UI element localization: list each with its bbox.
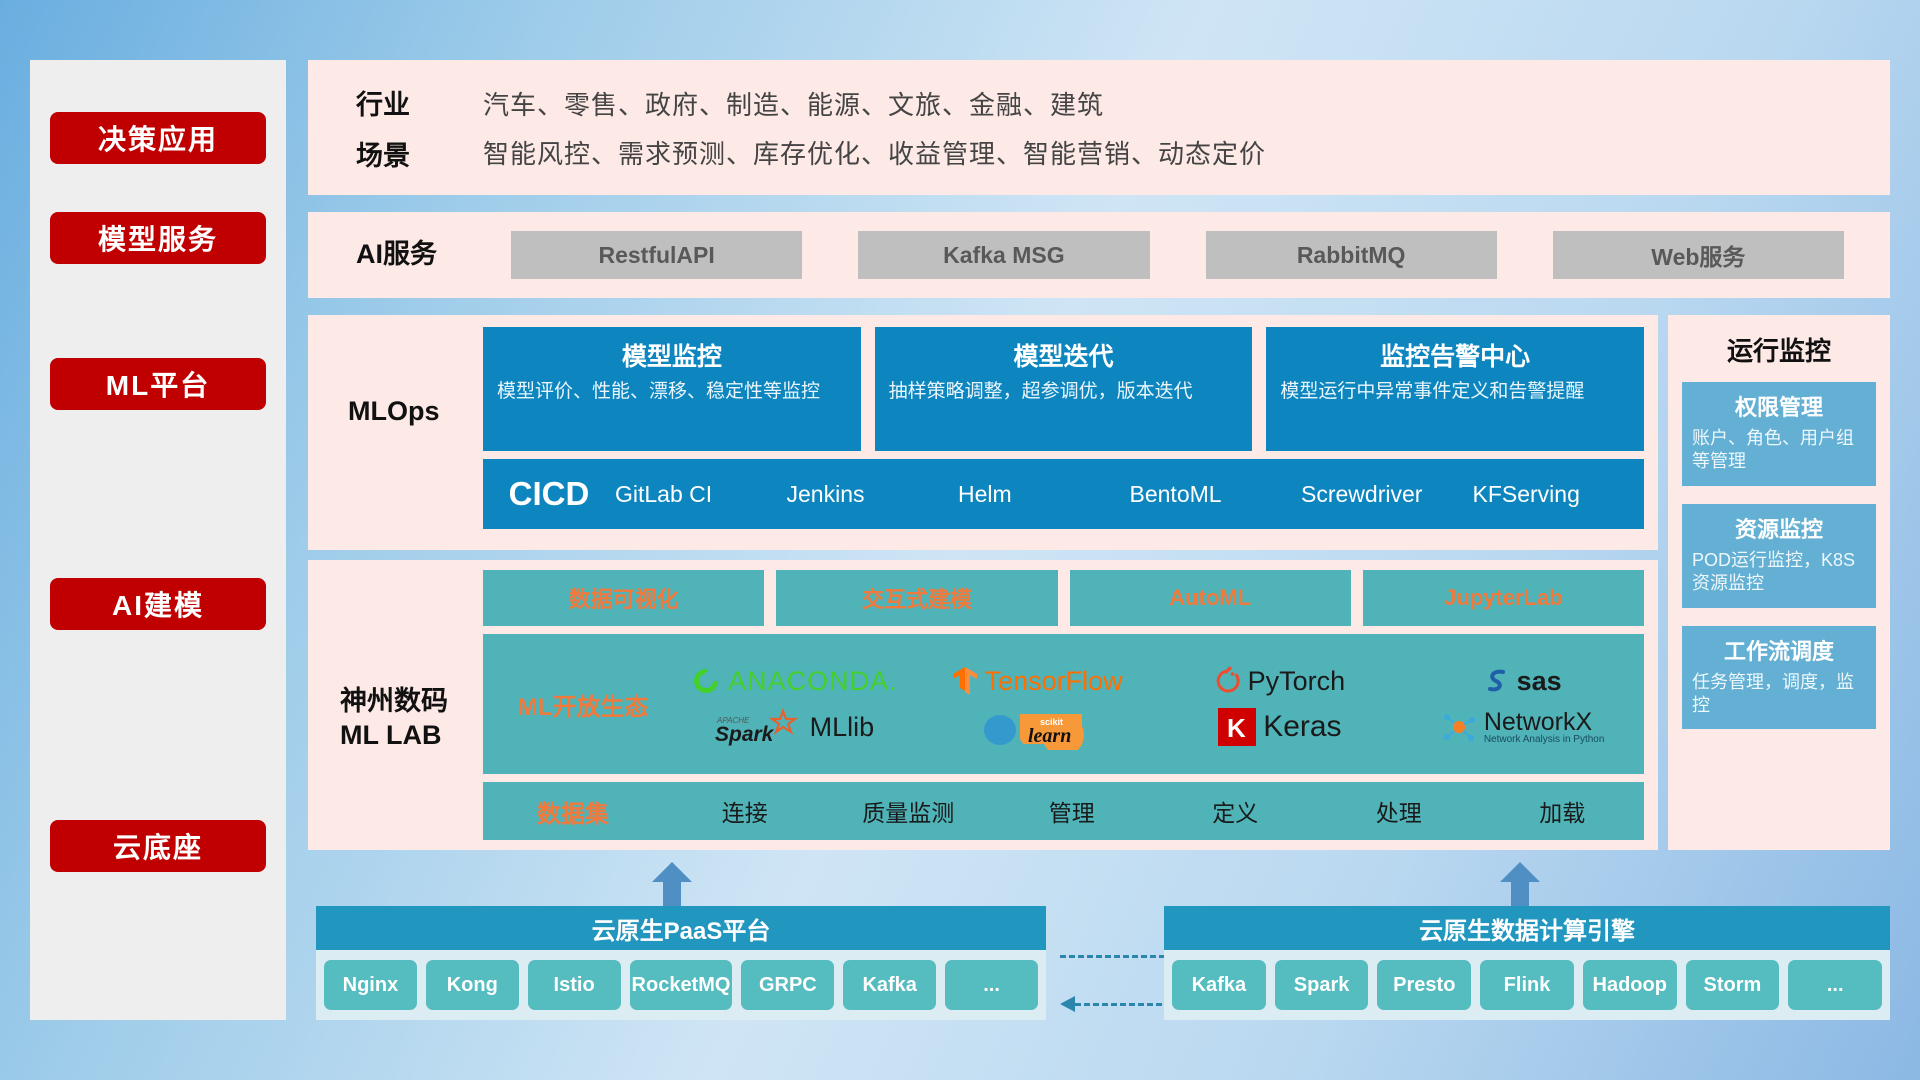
layer-rail: 决策应用 模型服务 ML平台 AI建模 云底座 <box>30 60 286 1020</box>
dataset-bar: 数据集 连接 质量监测 管理 定义 处理 加载 <box>483 782 1644 840</box>
cloud-chip-grpc[interactable]: GRPC <box>741 960 834 1010</box>
svg-text:Spark: Spark <box>715 723 775 746</box>
logo-networkx-text: NetworkX <box>1484 710 1605 735</box>
mlops-card-model-iteration[interactable]: 模型迭代 抽样策略调整，超参调优，版本迭代 <box>875 327 1253 451</box>
dataset-item-manage[interactable]: 管理 <box>990 794 1154 828</box>
scikit-learn-icon: scikit learn <box>982 704 1092 750</box>
svg-text:learn: learn <box>1028 725 1071 747</box>
cloud-chip-kafka[interactable]: Kafka <box>843 960 936 1010</box>
cloud-chip-presto[interactable]: Presto <box>1377 960 1471 1010</box>
mlops-content: 模型监控 模型评价、性能、漂移、稳定性等监控 模型迭代 抽样策略调整，超参调优，… <box>483 315 1658 550</box>
keras-icon: K <box>1218 708 1256 746</box>
cloud-chip-more[interactable]: ... <box>945 960 1038 1010</box>
dataset-item-list: 连接 质量监测 管理 定义 处理 加载 <box>663 794 1644 828</box>
cloud-chip-kafka[interactable]: Kafka <box>1172 960 1266 1010</box>
cicd-item-jenkins[interactable]: Jenkins <box>787 481 959 507</box>
dataset-item-define[interactable]: 定义 <box>1154 794 1318 828</box>
logo-networkx-subtitle: Network Analysis in Python <box>1484 735 1605 745</box>
sas-icon <box>1484 666 1510 696</box>
cloud-paas-chip-list: Nginx Kong Istio RocketMQ GRPC Kafka ... <box>316 950 1046 1020</box>
logo-tensorflow-text: TensorFlow <box>985 666 1123 697</box>
cicd-item-kfserving[interactable]: KFServing <box>1473 481 1645 507</box>
logo-anaconda-text: ANACONDA. <box>728 666 898 697</box>
card-title: 模型迭代 <box>889 337 1239 373</box>
card-desc: 抽样策略调整，超参调优，版本迭代 <box>889 379 1239 404</box>
dashed-arrow-right-icon <box>1060 950 1180 962</box>
dataset-item-load[interactable]: 加载 <box>1481 794 1645 828</box>
cloud-chip-storm[interactable]: Storm <box>1686 960 1780 1010</box>
cicd-item-gitlab-ci[interactable]: GitLab CI <box>615 481 787 507</box>
cloud-chip-spark[interactable]: Spark <box>1275 960 1369 1010</box>
mlops-card-list: 模型监控 模型评价、性能、漂移、稳定性等监控 模型迭代 抽样策略调整，超参调优，… <box>483 327 1644 451</box>
logo-networkx[interactable]: NetworkX Network Analysis in Python <box>1401 710 1644 745</box>
logo-anaconda[interactable]: ANACONDA. <box>673 666 916 697</box>
diagram-canvas: 决策应用 模型服务 ML平台 AI建模 云底座 行业 场景 汽车、零售、政府、制… <box>0 0 1920 1080</box>
ai-modeling-band: 神州数码 ML LAB 数据可视化 交互式建模 AutoML JupyterLa… <box>308 560 1658 850</box>
cicd-item-bentoml[interactable]: BentoML <box>1130 481 1302 507</box>
logo-pytorch-text: PyTorch <box>1248 666 1346 697</box>
monitor-card-workflow[interactable]: 工作流调度 任务管理，调度，监控 <box>1682 626 1876 730</box>
up-arrow-paas-icon <box>652 862 692 906</box>
rail-chip-cloud-base[interactable]: 云底座 <box>50 820 266 872</box>
tool-tab-list: 数据可视化 交互式建模 AutoML JupyterLab <box>483 570 1644 626</box>
tensorflow-icon <box>952 666 978 696</box>
ml-lab-label: 神州数码 ML LAB <box>308 560 483 850</box>
up-arrow-engine-icon <box>1500 862 1540 906</box>
tool-tab-jupyterlab[interactable]: JupyterLab <box>1363 570 1644 626</box>
card-title: 权限管理 <box>1692 390 1866 422</box>
card-desc: 任务管理，调度，监控 <box>1692 671 1866 718</box>
logo-spark-mllib[interactable]: APACHE Spark MLlib <box>673 707 916 747</box>
logo-tensorflow[interactable]: TensorFlow <box>916 666 1159 697</box>
ai-service-chip-kafka-msg[interactable]: Kafka MSG <box>858 231 1149 279</box>
cloud-engine-chip-list: Kafka Spark Presto Flink Hadoop Storm ..… <box>1164 950 1890 1020</box>
card-desc: 账户、角色、用户组等管理 <box>1692 427 1866 474</box>
industry-label: 行业 <box>356 83 483 122</box>
spark-icon: APACHE Spark <box>715 707 803 747</box>
mlops-label: MLOps <box>308 315 483 550</box>
cloud-chip-kong[interactable]: Kong <box>426 960 519 1010</box>
monitor-card-permission[interactable]: 权限管理 账户、角色、用户组等管理 <box>1682 382 1876 486</box>
cicd-item-list: GitLab CI Jenkins Helm BentoML Screwdriv… <box>615 481 1644 507</box>
tool-tab-data-visualization[interactable]: 数据可视化 <box>483 570 764 626</box>
dataset-title: 数据集 <box>483 794 663 829</box>
ai-service-chip-rabbitmq[interactable]: RabbitMQ <box>1206 231 1497 279</box>
logo-sas-text: sas <box>1517 666 1562 697</box>
cloud-paas-title: 云原生PaaS平台 <box>316 906 1046 950</box>
cicd-item-helm[interactable]: Helm <box>958 481 1130 507</box>
runtime-monitor-title: 运行监控 <box>1682 331 1876 368</box>
logo-keras[interactable]: K Keras <box>1159 708 1402 746</box>
cloud-chip-flink[interactable]: Flink <box>1480 960 1574 1010</box>
cicd-item-screwdriver[interactable]: Screwdriver <box>1301 481 1473 507</box>
pytorch-icon <box>1215 666 1241 696</box>
dashed-arrow-left-icon <box>1060 998 1180 1010</box>
ai-service-chip-list: RestfulAPI Kafka MSG RabbitMQ Web服务 <box>483 231 1890 279</box>
rail-chip-ml-platform[interactable]: ML平台 <box>50 358 266 410</box>
decision-labels: 行业 场景 <box>308 71 483 185</box>
tool-tab-interactive-modeling[interactable]: 交互式建模 <box>776 570 1057 626</box>
anaconda-icon <box>691 666 721 696</box>
card-title: 监控告警中心 <box>1280 337 1630 373</box>
ml-ecosystem-logo-grid: ANACONDA. TensorFlow <box>673 658 1644 750</box>
dataset-item-connect[interactable]: 连接 <box>663 794 827 828</box>
card-title: 资源监控 <box>1692 512 1866 544</box>
tool-tab-automl[interactable]: AutoML <box>1070 570 1351 626</box>
scenario-label: 场景 <box>356 134 483 173</box>
mlops-card-model-monitoring[interactable]: 模型监控 模型评价、性能、漂移、稳定性等监控 <box>483 327 861 451</box>
card-desc: 模型评价、性能、漂移、稳定性等监控 <box>497 379 847 404</box>
rail-chip-ai-modeling[interactable]: AI建模 <box>50 578 266 630</box>
monitor-card-resource[interactable]: 资源监控 POD运行监控，K8S资源监控 <box>1682 504 1876 608</box>
card-title: 模型监控 <box>497 337 847 373</box>
scenario-value: 智能风控、需求预测、库存优化、收益管理、智能营销、动态定价 <box>483 134 1266 171</box>
card-desc: POD运行监控，K8S资源监控 <box>1692 549 1866 596</box>
runtime-monitor-panel: 运行监控 权限管理 账户、角色、用户组等管理 资源监控 POD运行监控，K8S资… <box>1668 315 1890 850</box>
mlops-card-alert-center[interactable]: 监控告警中心 模型运行中异常事件定义和告警提醒 <box>1266 327 1644 451</box>
logo-pytorch[interactable]: PyTorch <box>1159 666 1402 697</box>
dataset-item-quality[interactable]: 质量监测 <box>827 794 991 828</box>
industry-value: 汽车、零售、政府、制造、能源、文旅、金融、建筑 <box>483 85 1266 122</box>
ml-ecosystem-label: ML开放生态 <box>493 687 673 722</box>
ai-service-chip-web[interactable]: Web服务 <box>1553 231 1844 279</box>
logo-mllib-text: MLlib <box>810 712 875 743</box>
cicd-title: CICD <box>483 475 615 513</box>
ai-service-label: AI服务 <box>308 238 483 272</box>
cloud-chip-rocketmq[interactable]: RocketMQ <box>630 960 733 1010</box>
cloud-chip-istio[interactable]: Istio <box>528 960 621 1010</box>
cloud-engine-block: 云原生数据计算引擎 Kafka Spark Presto Flink Hadoo… <box>1164 906 1890 1020</box>
rail-chip-model-service[interactable]: 模型服务 <box>50 212 266 264</box>
logo-keras-text: Keras <box>1263 710 1341 744</box>
mlops-band: MLOps 模型监控 模型评价、性能、漂移、稳定性等监控 模型迭代 抽样策略调整… <box>308 315 1658 550</box>
cicd-bar: CICD GitLab CI Jenkins Helm BentoML Scre… <box>483 459 1644 529</box>
cloud-chip-hadoop[interactable]: Hadoop <box>1583 960 1677 1010</box>
logo-sas[interactable]: sas <box>1401 666 1644 697</box>
decision-values: 汽车、零售、政府、制造、能源、文旅、金融、建筑 智能风控、需求预测、库存优化、收… <box>483 73 1266 183</box>
cloud-engine-title: 云原生数据计算引擎 <box>1164 906 1890 950</box>
cloud-chip-more[interactable]: ... <box>1788 960 1882 1010</box>
ai-service-band: AI服务 RestfulAPI Kafka MSG RabbitMQ Web服务 <box>308 212 1890 298</box>
ai-service-chip-restfulapi[interactable]: RestfulAPI <box>511 231 802 279</box>
decision-application-band: 行业 场景 汽车、零售、政府、制造、能源、文旅、金融、建筑 智能风控、需求预测、… <box>308 60 1890 195</box>
card-desc: 模型运行中异常事件定义和告警提醒 <box>1280 379 1630 404</box>
ml-lab-content: 数据可视化 交互式建模 AutoML JupyterLab ML开放生态 <box>483 560 1658 850</box>
logo-scikit-learn[interactable]: scikit learn <box>916 704 1159 750</box>
networkx-icon <box>1441 710 1477 744</box>
ml-ecosystem-box: ML开放生态 ANACONDA. <box>483 634 1644 774</box>
card-title: 工作流调度 <box>1692 634 1866 666</box>
rail-chip-decision[interactable]: 决策应用 <box>50 112 266 164</box>
dataset-item-process[interactable]: 处理 <box>1317 794 1481 828</box>
cloud-paas-block: 云原生PaaS平台 Nginx Kong Istio RocketMQ GRPC… <box>316 906 1046 1020</box>
cloud-chip-nginx[interactable]: Nginx <box>324 960 417 1010</box>
svg-text:K: K <box>1227 713 1246 743</box>
